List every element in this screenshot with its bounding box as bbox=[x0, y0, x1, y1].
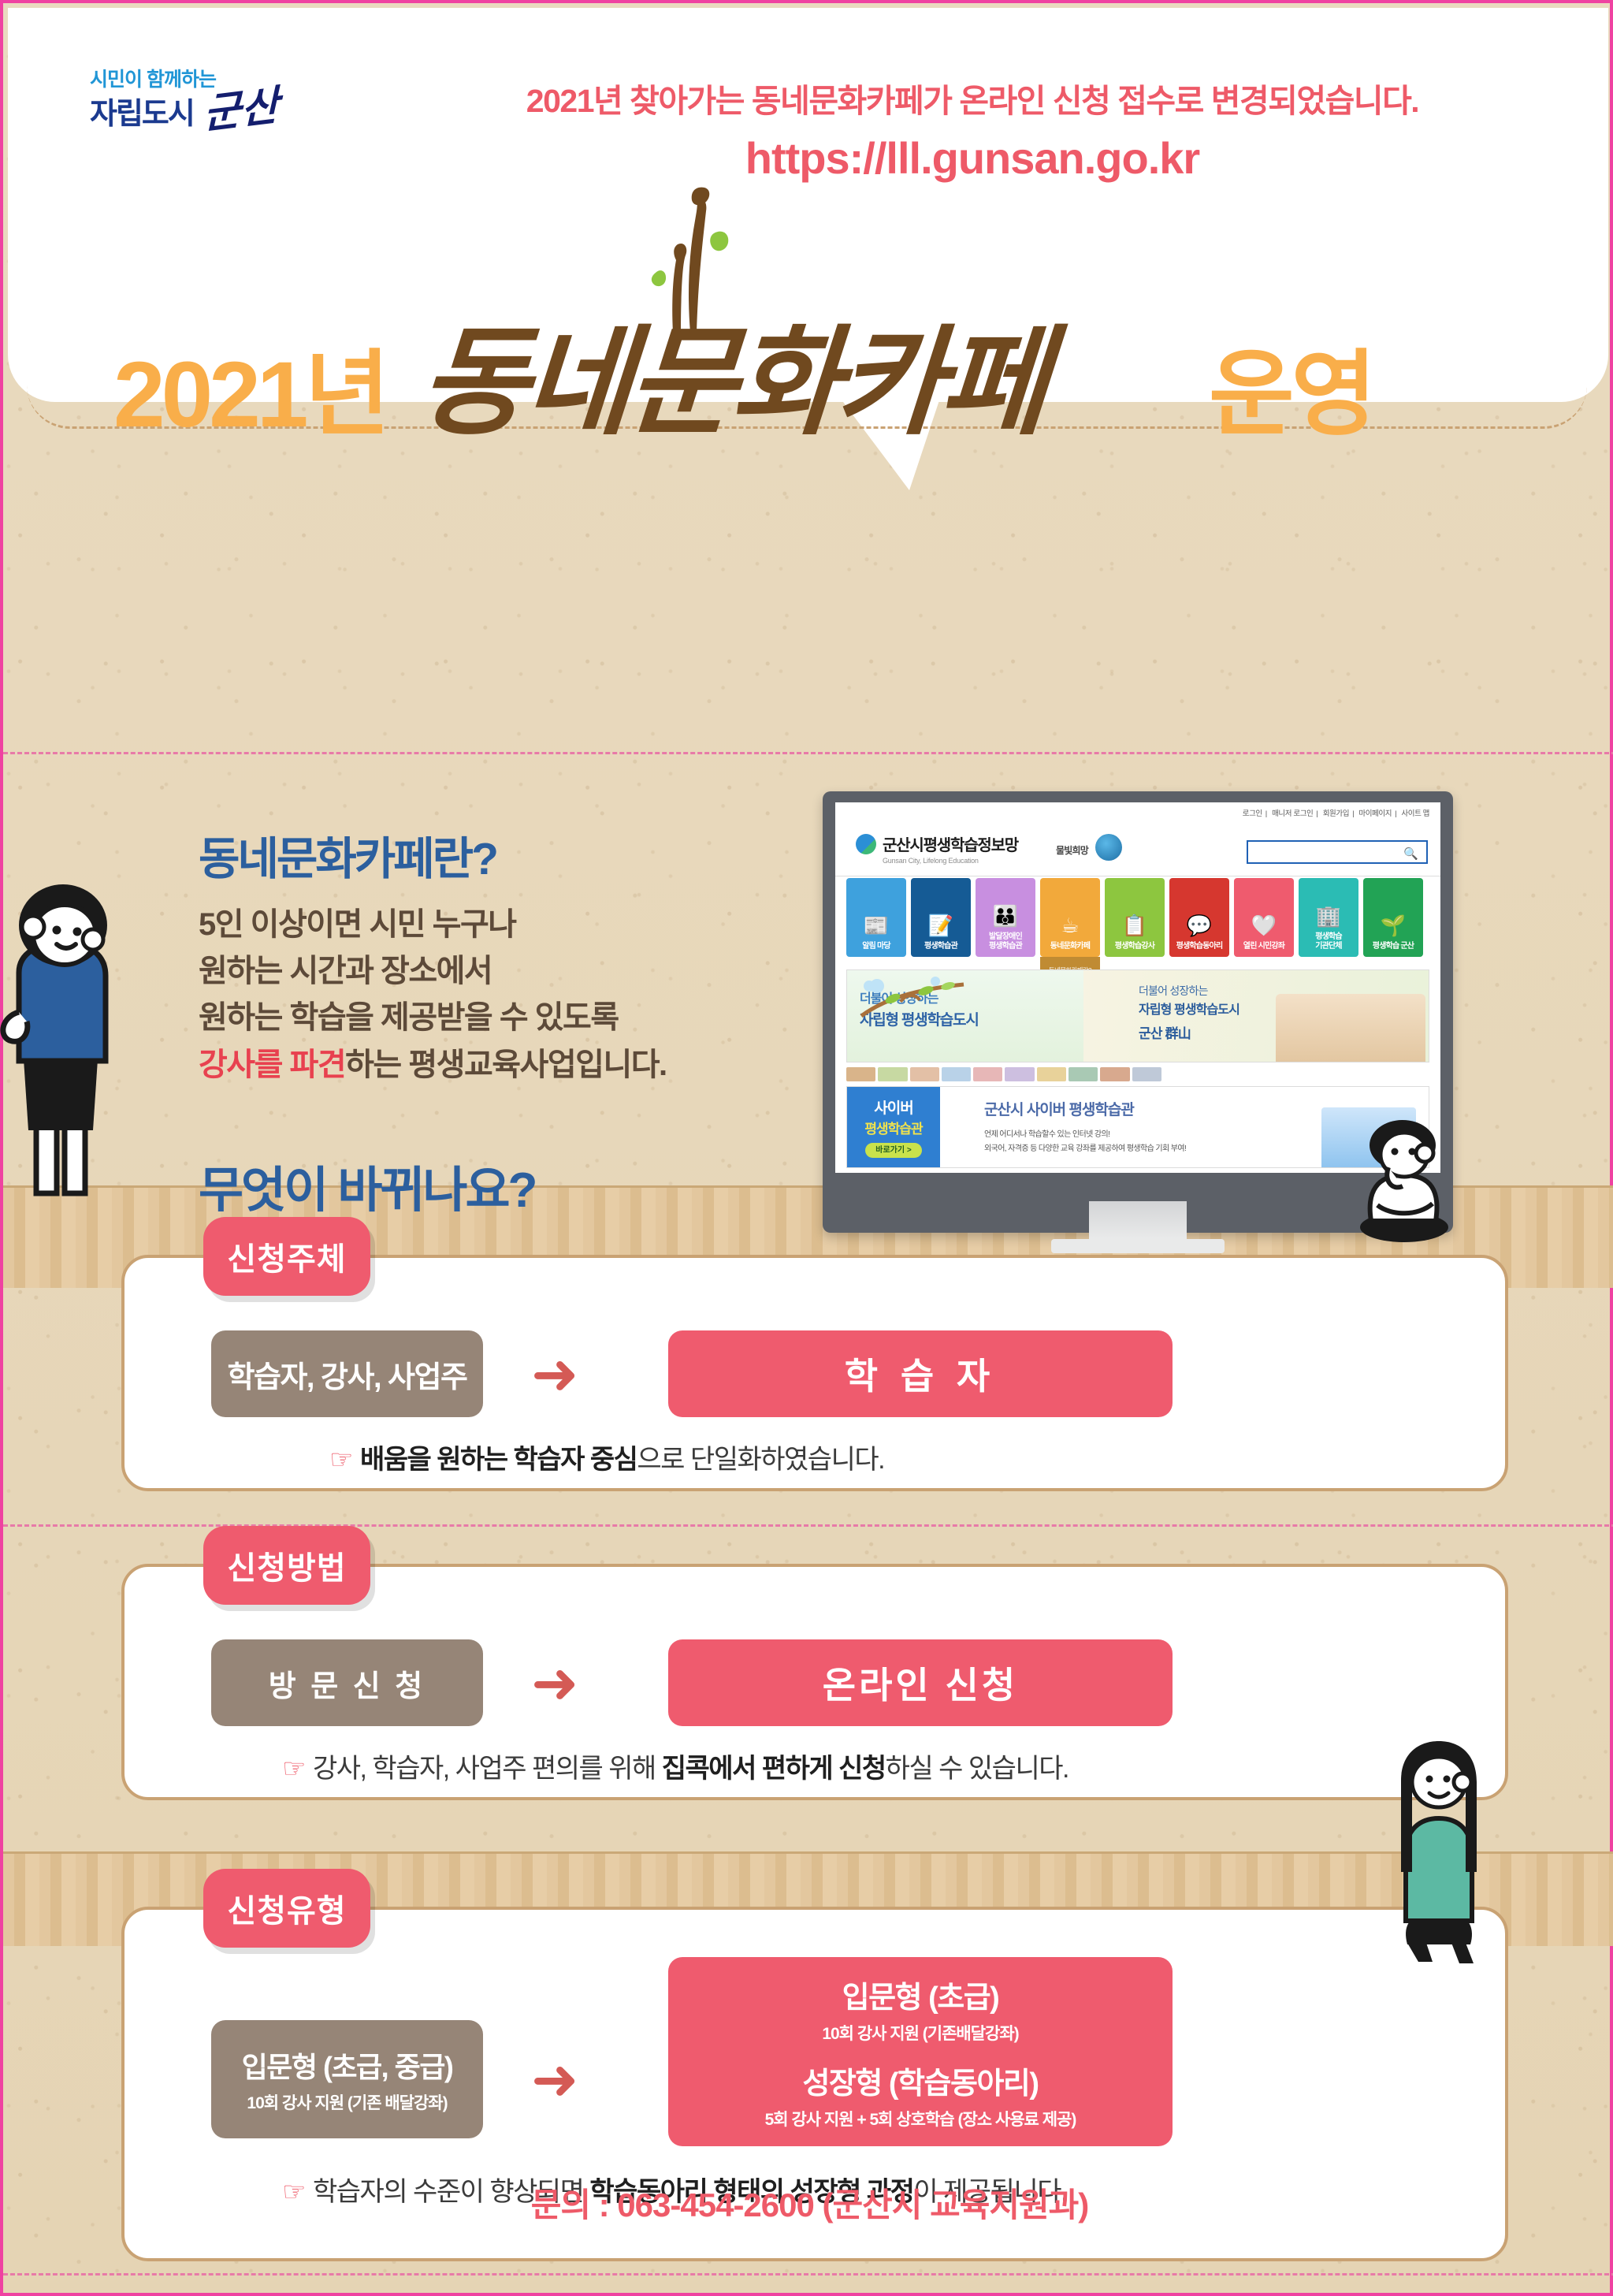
old-value-method: 방 문 신 청 bbox=[211, 1639, 483, 1726]
pointing-hand-icon: ☞ bbox=[329, 1445, 352, 1475]
note-applicant: ☞배움을 원하는 학습자 중심으로 단일화하였습니다. bbox=[329, 1438, 884, 1476]
intro-line-4-highlight: 강사를 파견 bbox=[199, 1048, 345, 1082]
contact-info: 문의 : 063-454-2600 (군산시 교육지원과) bbox=[3, 2179, 1613, 2227]
link-login[interactable]: 로그인 bbox=[1243, 809, 1262, 818]
logo-line2: 자립도시 bbox=[90, 98, 194, 131]
link-signup[interactable]: 회원가입 bbox=[1323, 809, 1349, 818]
news-icon: 📰 bbox=[864, 915, 889, 936]
card-tab-type: 신청유형 bbox=[203, 1869, 370, 1948]
title-operation: 운영 bbox=[1209, 318, 1373, 453]
site-logo-english: Gunsan City, Lifelong Education bbox=[883, 857, 1018, 865]
menu-tile-club[interactable]: 💬 평생학습동아리 bbox=[1169, 878, 1229, 957]
old-main-2: 입문형 (초급, 중급) bbox=[242, 2045, 453, 2086]
title-year: 2021년 bbox=[113, 318, 386, 453]
arrow-icon-1: ➜ bbox=[531, 1655, 578, 1712]
cyber-learning-banner[interactable]: 사이버 평생학습관 바로가기 > 군산시 사이버 평생학습관 언제 어디서나 학… bbox=[846, 1086, 1429, 1168]
site-menu-tiles: 📰 알림 마당 📝 평생학습관 👪 발달장애인 평생학습관 ☕ 동네문화카페 📋… bbox=[835, 878, 1440, 963]
search-input[interactable]: 🔍 bbox=[1247, 840, 1428, 864]
gunsan-emblem-icon bbox=[1095, 834, 1122, 861]
menu-tile-notice[interactable]: 📰 알림 마당 bbox=[846, 878, 906, 957]
intro-line-2: 원하는 시간과 장소에서 bbox=[199, 948, 750, 995]
section-divider-1 bbox=[3, 752, 1613, 754]
card-tab-method: 신청방법 bbox=[203, 1526, 370, 1605]
note-rest-0: 으로 단일화하였습니다. bbox=[637, 1445, 884, 1475]
monitor-stand-base bbox=[1051, 1239, 1225, 1253]
site-header: 군산시평생학습정보망 Gunsan City, Lifelong Educati… bbox=[835, 820, 1440, 876]
new-value-method: 온라인 신청 bbox=[668, 1639, 1173, 1726]
intro-line-4: 강사를 파견하는 평생교육사업입니다. bbox=[199, 1042, 750, 1088]
section-divider-bottom bbox=[3, 2273, 1613, 2276]
pointing-hand-icon: ☞ bbox=[282, 1754, 305, 1784]
banner-family-photo bbox=[1276, 994, 1425, 1062]
menu-label-7: 평생학습 기관단체 bbox=[1315, 932, 1342, 951]
site-logo-text[interactable]: 군산시평생학습정보망 Gunsan City, Lifelong Educati… bbox=[883, 832, 1018, 865]
new-value-type: 입문형 (초급) 10회 강사 지원 (기존배달강좌) 성장형 (학습동아리) … bbox=[668, 1957, 1173, 2146]
monitor-stand-neck bbox=[1089, 1201, 1187, 1244]
search-icon[interactable]: 🔍 bbox=[1403, 847, 1418, 861]
site-utility-links[interactable]: 로그인| 매니저 로그인| 회원가입| 마이페이지| 사이트 맵 bbox=[1239, 807, 1433, 818]
banner-right: 더불어 성장하는 자립형 평생학습도시 군산 群山 bbox=[1083, 970, 1429, 1062]
character-sitting-person bbox=[1343, 1118, 1469, 1245]
note-rest-1: 하실 수 있습니다. bbox=[886, 1754, 1069, 1784]
site-slogan: 물빛희망 bbox=[1056, 843, 1088, 857]
note-bold-1: 집콕에서 편하게 신청 bbox=[662, 1754, 886, 1784]
link-sitemap[interactable]: 사이트 맵 bbox=[1401, 809, 1429, 818]
link-mypage[interactable]: 마이페이지 bbox=[1358, 809, 1392, 818]
menu-tile-organization[interactable]: 🏢 평생학습 기관단체 bbox=[1299, 878, 1358, 957]
old-value-applicant: 학습자, 강사, 사업주 bbox=[211, 1330, 483, 1417]
note-bold-0: 배움을 원하는 학습자 중심 bbox=[360, 1445, 637, 1475]
cyber-goto-button[interactable]: 바로가기 > bbox=[865, 1143, 922, 1158]
family-heart-icon: 👪 bbox=[993, 906, 1018, 926]
cyber-tag: 사이버 평생학습관 바로가기 > bbox=[847, 1087, 940, 1167]
new-main-2: 입문형 (초급) bbox=[842, 1973, 999, 2016]
announcement-block: 2021년 찾아가는 동네문화카페가 온라인 신청 접수로 변경되었습니다. h… bbox=[413, 74, 1532, 184]
new-main-0: 학 습 자 bbox=[845, 1348, 997, 1400]
site-main-banner[interactable]: 더불어 성장하는 자립형 평생학습도시 더불어 성장하는 자립형 평생학습도시 … bbox=[846, 969, 1429, 1062]
character-standing-woman bbox=[0, 878, 129, 1209]
old-main-1: 방 문 신 청 bbox=[269, 1662, 426, 1705]
card-tab-applicant: 신청주체 bbox=[203, 1217, 370, 1296]
intro-line-4-rest: 하는 평생교육사업입니다. bbox=[345, 1048, 667, 1082]
new-main2-2: 성장형 (학습동아리) bbox=[802, 2059, 1038, 2102]
note-method: ☞강사, 학습자, 사업주 편의를 위해 집콕에서 편하게 신청하실 수 있습니… bbox=[282, 1747, 1069, 1785]
cyber-tag-line2: 평생학습관 bbox=[847, 1118, 940, 1137]
hand-heart-icon: 🤍 bbox=[1251, 915, 1277, 936]
poster-root: { "header": { "logo": { "line1": "시민이 함께… bbox=[0, 0, 1613, 2296]
banner-left: 더불어 성장하는 자립형 평생학습도시 bbox=[847, 970, 1083, 1062]
old-value-type: 입문형 (초급, 중급) 10회 강사 지원 (기존 배달강좌) bbox=[211, 2020, 483, 2138]
arrow-icon-2: ➜ bbox=[531, 2052, 578, 2108]
site-logo-korean: 군산시평생학습정보망 bbox=[883, 832, 1018, 855]
menu-tile-disability-center[interactable]: 👪 발달장애인 평생학습관 bbox=[976, 878, 1035, 957]
menu-label-5: 평생학습동아리 bbox=[1176, 942, 1223, 951]
clipboard-person-icon: 📋 bbox=[1122, 915, 1147, 936]
menu-tile-culture-cafe[interactable]: ☕ 동네문화카페 bbox=[1040, 878, 1100, 957]
menu-label-0: 알림 마당 bbox=[862, 942, 890, 951]
menu-label-1: 평생학습관 bbox=[924, 942, 957, 951]
menu-label-6: 열린 시민강좌 bbox=[1243, 942, 1284, 951]
new-main-1: 온라인 신청 bbox=[823, 1657, 1018, 1709]
arrow-icon-0: ➜ bbox=[531, 1346, 578, 1403]
change-heading: 무엇이 바뀌나요? bbox=[199, 1150, 535, 1221]
card-method: 신청방법 방 문 신 청 ➜ 온라인 신청 ☞강사, 학습자, 사업주 편의를 … bbox=[121, 1564, 1508, 1800]
old-sub-2: 10회 강사 지원 (기존 배달강좌) bbox=[247, 2090, 447, 2114]
intro-line-3: 원하는 학습을 제공받을 수 있도록 bbox=[199, 995, 750, 1041]
logo-line3: 군산 bbox=[203, 85, 279, 136]
gunsan-city-logo: 시민이 함께하는 자립도시 군산 bbox=[90, 70, 279, 131]
building-hand-icon: 🏢 bbox=[1316, 906, 1341, 926]
announcement-text: 2021년 찾아가는 동네문화카페가 온라인 신청 접수로 변경되었습니다. bbox=[413, 74, 1532, 121]
menu-tile-gunsan[interactable]: 🌱 평생학습 군산 bbox=[1363, 878, 1423, 957]
menu-label-8: 평생학습 군산 bbox=[1373, 942, 1414, 951]
new-sub2-2: 5회 강사 지원 + 5회 상호학습 (장소 사용료 제공) bbox=[765, 2107, 1076, 2130]
new-sub-2: 10회 강사 지원 (기존배달강좌) bbox=[822, 2021, 1018, 2045]
intro-body: 5인 이상이면 시민 누구나 원하는 시간과 장소에서 원하는 학습을 제공받을… bbox=[199, 902, 750, 1088]
tree-illustration-icon bbox=[853, 975, 972, 1022]
book-person-icon: 📝 bbox=[928, 915, 953, 936]
intro-line-1: 5인 이상이면 시민 누구나 bbox=[199, 902, 750, 948]
menu-label-4: 평생학습강사 bbox=[1115, 942, 1154, 951]
site-logo-icon bbox=[856, 834, 876, 854]
menu-tile-learning-center[interactable]: 📝 평생학습관 bbox=[911, 878, 971, 957]
new-value-applicant: 학 습 자 bbox=[668, 1330, 1173, 1417]
branch-sprout-icon bbox=[641, 184, 736, 334]
menu-label-2: 발달장애인 평생학습관 bbox=[989, 932, 1022, 951]
menu-label-3: 동네문화카페 bbox=[1050, 942, 1090, 951]
website-url[interactable]: https://lll.gunsan.go.kr bbox=[413, 132, 1532, 184]
link-manager-login[interactable]: 매니저 로그인 bbox=[1272, 809, 1313, 818]
character-long-hair-girl bbox=[1374, 1733, 1500, 1970]
cyber-tag-line1: 사이버 bbox=[847, 1096, 940, 1118]
menu-tile-instructor[interactable]: 📋 평생학습강사 bbox=[1105, 878, 1165, 957]
thumbnail-strip[interactable] bbox=[846, 1067, 1161, 1081]
menu-tile-open-lecture[interactable]: 🤍 열린 시민강좌 bbox=[1234, 878, 1294, 957]
note-prefix-1: 강사, 학습자, 사업주 편의를 위해 bbox=[313, 1754, 662, 1784]
card-applicant: 신청주체 학습자, 강사, 사업주 ➜ 학 습 자 ☞배움을 원하는 학습자 중… bbox=[121, 1255, 1508, 1491]
coffee-cup-icon: ☕ bbox=[1061, 915, 1079, 936]
old-main-0: 학습자, 강사, 사업주 bbox=[228, 1353, 467, 1396]
talk-bubble-icon: 💬 bbox=[1187, 915, 1212, 936]
growth-leaf-icon: 🌱 bbox=[1381, 915, 1406, 936]
website-screenshot: 로그인| 매니저 로그인| 회원가입| 마이페이지| 사이트 맵 군산시평생학습… bbox=[835, 802, 1440, 1173]
intro-heading: 동네문화카페란? bbox=[199, 823, 496, 888]
